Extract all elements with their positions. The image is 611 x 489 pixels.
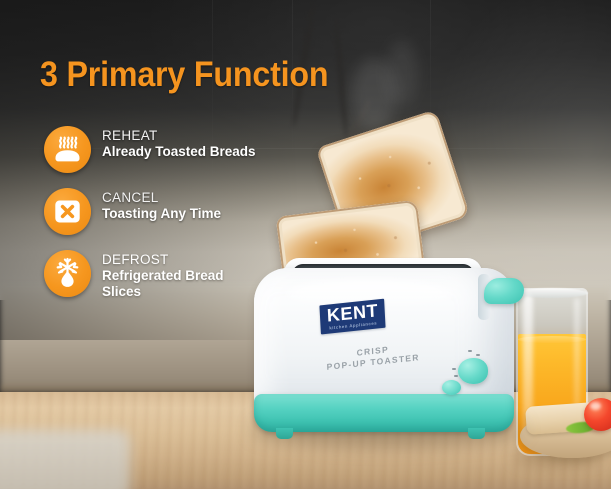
feature-title: REHEAT bbox=[102, 128, 256, 143]
browning-control-knob[interactable] bbox=[458, 358, 488, 384]
steam-wisp bbox=[386, 40, 418, 106]
feature-text-reheat: REHEAT Already Toasted Breads bbox=[102, 124, 256, 160]
glass-rim bbox=[516, 288, 588, 298]
toaster-product: KENT kitchen Appliances CRISP POP-UP TOA… bbox=[246, 262, 526, 452]
toaster-foot bbox=[468, 428, 485, 439]
product-banner: 3 Primary Function REHEAT Alr bbox=[0, 0, 611, 489]
feature-text-defrost: DEFROST Refrigerated Bread Slices bbox=[102, 248, 260, 299]
function-button[interactable] bbox=[442, 380, 461, 395]
feature-title: CANCEL bbox=[102, 190, 221, 205]
feature-text-cancel: CANCEL Toasting Any Time bbox=[102, 186, 221, 222]
cancel-cross-icon bbox=[44, 188, 91, 235]
feature-item-reheat: REHEAT Already Toasted Breads bbox=[44, 124, 294, 176]
background-cloth bbox=[0, 430, 130, 489]
feature-subtitle: Refrigerated Bread Slices bbox=[102, 268, 260, 299]
toaster-foot bbox=[276, 428, 293, 439]
feature-subtitle: Toasting Any Time bbox=[102, 206, 221, 222]
feature-subtitle: Already Toasted Breads bbox=[102, 144, 256, 160]
reheat-toast-steam-icon bbox=[44, 126, 91, 173]
tomato-highlight bbox=[590, 402, 601, 410]
pop-up-lever[interactable] bbox=[484, 278, 524, 304]
page-title: 3 Primary Function bbox=[40, 55, 328, 95]
toaster-base bbox=[254, 394, 514, 432]
wooden-plate bbox=[520, 398, 611, 470]
defrost-snowflake-droplet-icon bbox=[44, 250, 91, 297]
feature-title: DEFROST bbox=[102, 252, 260, 267]
feature-item-cancel: CANCEL Toasting Any Time bbox=[44, 186, 294, 238]
